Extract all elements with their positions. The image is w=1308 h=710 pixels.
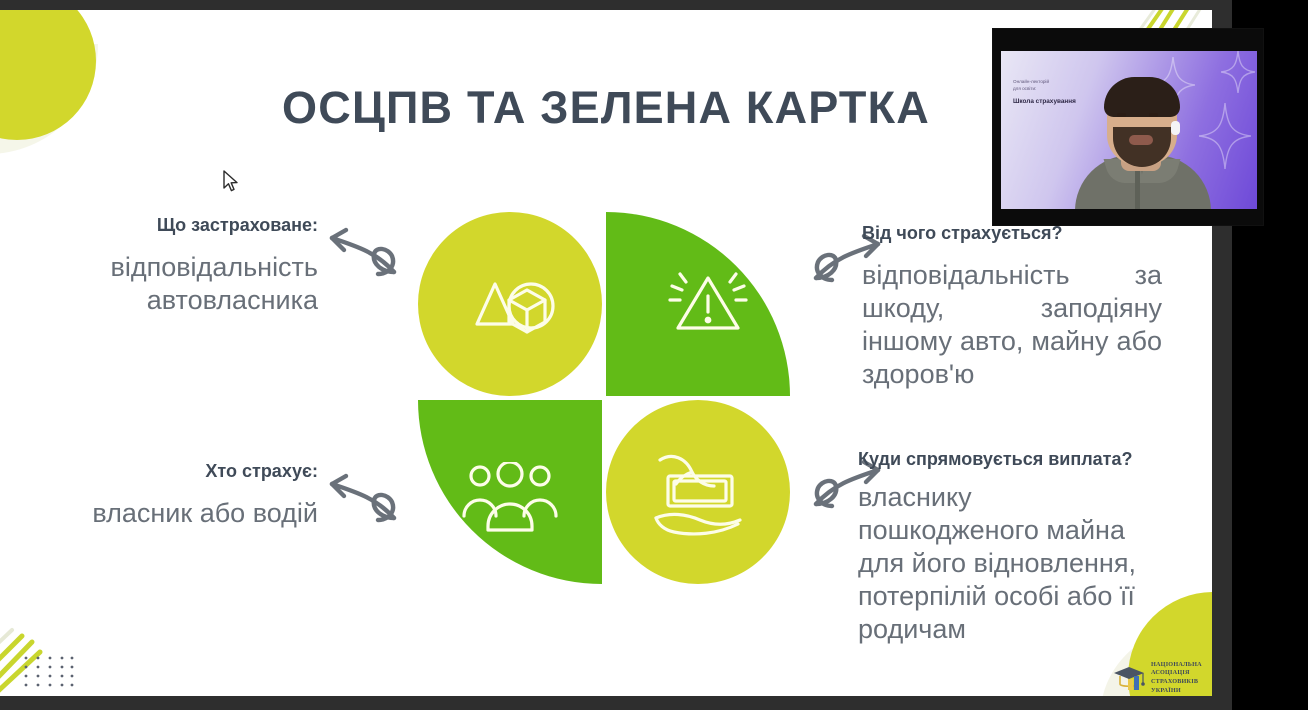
callout-body: власник або водій — [18, 497, 318, 530]
hand-money-icon — [642, 446, 754, 538]
callout-body: власнику пошкодженого майна для його від… — [858, 481, 1158, 646]
curly-arrow-left-icon-bottom — [322, 462, 404, 524]
petal-top-right[interactable] — [606, 212, 790, 396]
screen: ОСЦПВ ТА ЗЕЛЕНА КАРТКА — [0, 0, 1308, 710]
shapes-cube-icon — [451, 262, 569, 346]
callout-where-payment-goes: Куди спрямовується виплата? власнику пош… — [858, 448, 1158, 646]
callout-body: відповідальність автовласника — [18, 251, 318, 317]
callout-heading: Куди спрямовується виплата? — [858, 448, 1158, 471]
dot-grid-bottom-left-icon — [24, 656, 74, 694]
webcam-branding: Онлайн-лекторій для освіти: Школа страху… — [1013, 79, 1123, 105]
callout-heading: Що застраховане: — [18, 214, 318, 237]
sparkle-icon — [1221, 51, 1255, 93]
association-logo-text: Національна Асоціація Страховиків Україн… — [1151, 661, 1202, 695]
curly-arrow-left-icon-top — [322, 216, 404, 278]
webcam-video: Онлайн-лекторій для освіти: Школа страху… — [1001, 51, 1257, 209]
four-quadrant-graphic — [418, 212, 790, 584]
petal-top-left[interactable] — [418, 212, 602, 396]
callout-heading: Хто страхує: — [18, 460, 318, 483]
callout-what-is-insured: Що застраховане: відповідальність автовл… — [18, 214, 318, 317]
graduation-cap-icon — [1112, 662, 1146, 694]
webcam-overlay[interactable]: Онлайн-лекторій для освіти: Школа страху… — [992, 28, 1264, 226]
petal-bottom-left[interactable] — [418, 400, 602, 584]
association-logo: Національна Асоціація Страховиків Україн… — [1112, 658, 1212, 696]
petal-bottom-right[interactable] — [606, 400, 790, 584]
people-group-icon — [462, 462, 558, 534]
warning-triangle-icon — [668, 264, 748, 336]
callout-who-insures: Хто страхує: власник або водій — [18, 460, 318, 530]
webcam-label-small: Онлайн-лекторій для освіти: — [1013, 79, 1123, 93]
mouse-cursor-icon — [222, 170, 240, 194]
callout-body: відповідальність за шкоду, заподіяну інш… — [862, 259, 1162, 391]
callout-against-what: Від чого страхується? відповідальність з… — [862, 222, 1162, 391]
webcam-label-brand: Школа страхування — [1013, 98, 1123, 105]
